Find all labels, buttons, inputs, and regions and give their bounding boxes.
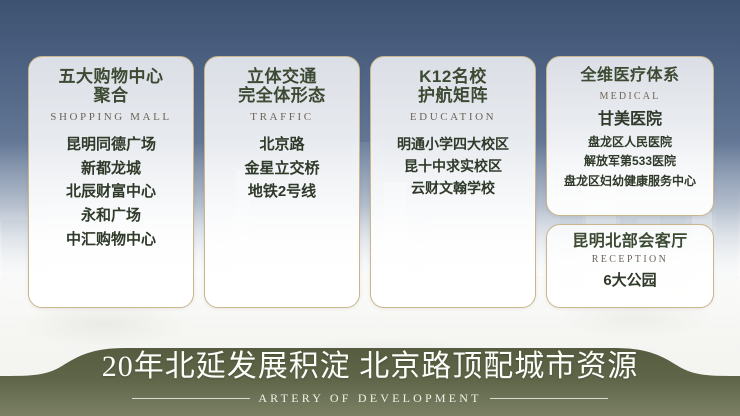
card-subtitle: TRAFFIC: [211, 111, 353, 123]
card-title: 全维医疗体系: [553, 67, 707, 85]
list-item: 昆十中求实校区: [377, 155, 529, 177]
banner-text-block: 20年北延发展积淀 北京路顶配城市资源 ARTERY OF DEVELOPMEN…: [0, 342, 740, 416]
banner-subtitle-row: ARTERY OF DEVELOPMENT: [132, 391, 607, 406]
list-item: 盘龙区人民医院: [553, 133, 707, 152]
decorative-rule-right: [490, 398, 608, 399]
list-item: 云财文翰学校: [377, 177, 529, 199]
card-shopping-mall[interactable]: 五大购物中心 聚合 SHOPPING MALL 昆明同德广场 新都龙城 北辰财富…: [28, 56, 194, 308]
card-subtitle: RECEPTION: [553, 254, 707, 265]
card-title: K12名校 护航矩阵: [377, 67, 529, 105]
list-item: 解放军第533医院: [553, 152, 707, 171]
list-item: 6大公园: [553, 269, 707, 293]
card-item-list: 昆明同德广场 新都龙城 北辰财富中心 永和广场 中汇购物中心: [35, 133, 187, 251]
decorative-rule-left: [132, 398, 250, 399]
list-item: 地铁2号线: [211, 180, 353, 204]
feature-card-grid: 五大购物中心 聚合 SHOPPING MALL 昆明同德广场 新都龙城 北辰财富…: [28, 56, 718, 308]
card-column-medical-reception: 全维医疗体系 MEDICAL 甘美医院 盘龙区人民医院 解放军第533医院 盘龙…: [546, 56, 714, 308]
list-item: 北京路: [211, 133, 353, 157]
list-item: 金星立交桥: [211, 157, 353, 181]
card-item-list: 明通小学四大校区 昆十中求实校区 云财文翰学校: [377, 133, 529, 199]
list-item: 昆明同德广场: [35, 133, 187, 157]
list-item: 永和广场: [35, 204, 187, 228]
poster-root: 五大购物中心 聚合 SHOPPING MALL 昆明同德广场 新都龙城 北辰财富…: [0, 0, 740, 416]
card-medical[interactable]: 全维医疗体系 MEDICAL 甘美医院 盘龙区人民医院 解放军第533医院 盘龙…: [546, 56, 714, 216]
card-column-traffic: 立体交通 完全体形态 TRAFFIC 北京路 金星立交桥 地铁2号线: [204, 56, 360, 308]
card-subtitle: EDUCATION: [377, 111, 529, 123]
list-item: 中汇购物中心: [35, 228, 187, 252]
card-traffic[interactable]: 立体交通 完全体形态 TRAFFIC 北京路 金星立交桥 地铁2号线: [204, 56, 360, 308]
list-item: 新都龙城: [35, 157, 187, 181]
list-item: 甘美医院: [553, 108, 707, 132]
banner-headline: 20年北延发展积淀 北京路顶配城市资源: [102, 352, 639, 382]
bottom-banner: 20年北延发展积淀 北京路顶配城市资源 ARTERY OF DEVELOPMEN…: [0, 342, 740, 416]
card-item-list: 6大公园: [553, 269, 707, 293]
list-item: 明通小学四大校区: [377, 133, 529, 155]
card-item-list: 甘美医院 盘龙区人民医院 解放军第533医院 盘龙区妇幼健康服务中心: [553, 108, 707, 191]
card-column-education: K12名校 护航矩阵 EDUCATION 明通小学四大校区 昆十中求实校区 云财…: [370, 56, 536, 308]
card-subtitle: MEDICAL: [553, 91, 707, 102]
card-subtitle: SHOPPING MALL: [35, 111, 187, 123]
card-title: 昆明北部会客厅: [553, 233, 707, 251]
card-education[interactable]: K12名校 护航矩阵 EDUCATION 明通小学四大校区 昆十中求实校区 云财…: [370, 56, 536, 308]
card-title: 五大购物中心 聚合: [35, 67, 187, 105]
banner-subtitle: ARTERY OF DEVELOPMENT: [258, 391, 481, 406]
list-item: 北辰财富中心: [35, 180, 187, 204]
card-reception[interactable]: 昆明北部会客厅 RECEPTION 6大公园: [546, 224, 714, 308]
list-item: 盘龙区妇幼健康服务中心: [553, 172, 707, 191]
card-column-shopping: 五大购物中心 聚合 SHOPPING MALL 昆明同德广场 新都龙城 北辰财富…: [28, 56, 194, 308]
card-item-list: 北京路 金星立交桥 地铁2号线: [211, 133, 353, 204]
card-title: 立体交通 完全体形态: [211, 67, 353, 105]
